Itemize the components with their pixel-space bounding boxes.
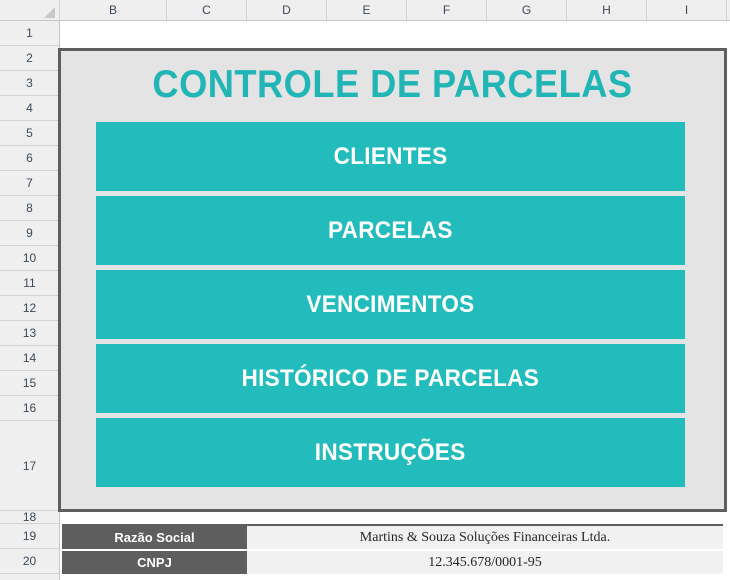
menu-button-parcelas[interactable]: PARCELAS: [96, 196, 685, 265]
table-row: CNPJ 12.345.678/0001-95: [62, 550, 723, 575]
main-menu-panel: CONTROLE DE PARCELAS CLIENTES PARCELAS V…: [58, 48, 727, 512]
menu-button-vencimentos[interactable]: VENCIMENTOS: [96, 270, 685, 339]
row-header-20[interactable]: 20: [0, 549, 59, 574]
row-header-8[interactable]: 8: [0, 196, 59, 221]
page-title: CONTROLE DE PARCELAS: [84, 63, 701, 107]
column-header-c[interactable]: C: [167, 0, 247, 20]
menu-button-parcelas-label: PARCELAS: [328, 217, 453, 245]
column-header-g[interactable]: G: [487, 0, 567, 20]
column-header-e[interactable]: E: [327, 0, 407, 20]
menu-button-clientes[interactable]: CLIENTES: [96, 122, 685, 191]
row-header-12[interactable]: 12: [0, 296, 59, 321]
row-header-3[interactable]: 3: [0, 71, 59, 96]
menu-button-instrucoes-label: INSTRUÇÕES: [315, 439, 466, 467]
row-header-1[interactable]: 1: [0, 21, 59, 46]
column-header-d[interactable]: D: [247, 0, 327, 20]
column-header-bar: BCDEFGHI: [0, 0, 730, 21]
row-header-2[interactable]: 2: [0, 46, 59, 71]
table-row: Razão Social Martins & Souza Soluções Fi…: [62, 525, 723, 550]
row-header-10[interactable]: 10: [0, 246, 59, 271]
row-header-18[interactable]: 18: [0, 511, 59, 524]
menu-button-instrucoes[interactable]: INSTRUÇÕES: [96, 418, 685, 487]
info-label-cnpj: CNPJ: [62, 550, 247, 575]
company-info-table: Razão Social Martins & Souza Soluções Fi…: [62, 524, 723, 576]
column-header-f[interactable]: F: [407, 0, 487, 20]
menu-button-historico-de-parcelas[interactable]: HISTÓRICO DE PARCELAS: [96, 344, 685, 413]
column-header-i[interactable]: I: [647, 0, 727, 20]
menu-button-list: CLIENTES PARCELAS VENCIMENTOS HISTÓRICO …: [96, 122, 685, 492]
row-header-6[interactable]: 6: [0, 146, 59, 171]
select-all-triangle-icon: [44, 7, 55, 18]
select-all-corner[interactable]: [0, 0, 60, 20]
row-header-4[interactable]: 4: [0, 96, 59, 121]
menu-button-vencimentos-label: VENCIMENTOS: [306, 291, 474, 319]
row-header-16[interactable]: 16: [0, 396, 59, 421]
menu-button-clientes-label: CLIENTES: [334, 143, 448, 171]
menu-button-historico-de-parcelas-label: HISTÓRICO DE PARCELAS: [242, 365, 540, 393]
row-header-13[interactable]: 13: [0, 321, 59, 346]
row-header-11[interactable]: 11: [0, 271, 59, 296]
column-header-b[interactable]: B: [60, 0, 167, 20]
row-header-19[interactable]: 19: [0, 524, 59, 549]
column-header-h[interactable]: H: [567, 0, 647, 20]
row-header-9[interactable]: 9: [0, 221, 59, 246]
row-header-5[interactable]: 5: [0, 121, 59, 146]
info-value-cnpj[interactable]: 12.345.678/0001-95: [247, 550, 723, 575]
info-value-razao-social[interactable]: Martins & Souza Soluções Financeiras Ltd…: [247, 525, 723, 550]
row-header-15[interactable]: 15: [0, 371, 59, 396]
info-label-razao-social: Razão Social: [62, 525, 247, 550]
row-header-17[interactable]: 17: [0, 421, 59, 511]
row-header-bar: 1234567891011121314151617181920: [0, 21, 60, 580]
row-header-14[interactable]: 14: [0, 346, 59, 371]
spreadsheet-app: BCDEFGHI 1234567891011121314151617181920…: [0, 0, 730, 580]
row-header-7[interactable]: 7: [0, 171, 59, 196]
